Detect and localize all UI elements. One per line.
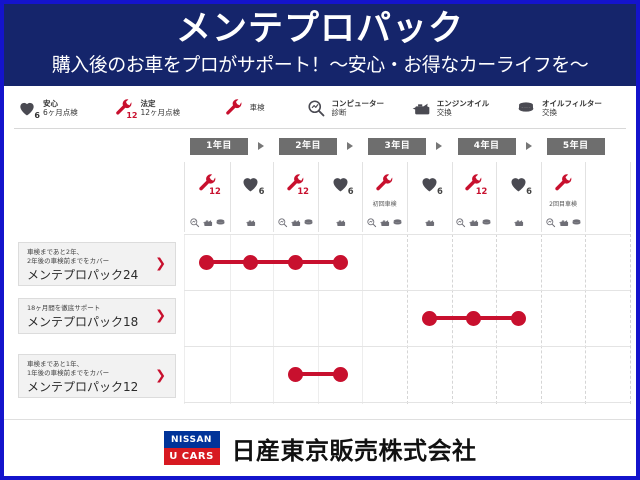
column-note-5: 初回車検 bbox=[373, 200, 397, 210]
oil-can-icon bbox=[245, 213, 256, 232]
page-footer: NISSAN U CARS 日産東京販売株式会社 bbox=[4, 420, 636, 476]
column-sub-icons bbox=[277, 212, 314, 232]
legend-item-3: コンピューター診断 bbox=[303, 95, 396, 121]
oil-can-icon bbox=[424, 213, 435, 232]
coverage-dot bbox=[334, 256, 347, 269]
year-label-4: 4年目 bbox=[458, 138, 516, 155]
year-arrow-4 bbox=[526, 142, 532, 150]
package-sub1: 車検まであと2年、 bbox=[27, 248, 169, 257]
magnifier-icon bbox=[545, 213, 556, 232]
company-name: 日産東京販売株式会社 bbox=[232, 431, 477, 466]
package-sub1: 車検まであと1年、 bbox=[27, 360, 169, 369]
magnifier-icon bbox=[189, 213, 200, 232]
year-label-1: 1年目 bbox=[190, 138, 248, 155]
logo-nissan-text: NISSAN bbox=[164, 431, 220, 448]
column-sub-icons bbox=[335, 212, 346, 232]
heart-icon: 6 bbox=[240, 162, 261, 200]
timeline-column-6: 6 bbox=[407, 162, 453, 232]
column-sub-icons bbox=[189, 212, 226, 232]
year-arrow-1 bbox=[258, 142, 264, 150]
timeline-column-2: 6 bbox=[229, 162, 275, 232]
package-timeline-area bbox=[184, 234, 630, 404]
legend-item-label: エンジンオイル交換 bbox=[437, 99, 490, 118]
oil-filter-icon bbox=[392, 213, 403, 232]
timeline-column-7: 12 bbox=[452, 162, 498, 232]
legend-item-0: 6安心6ヶ月点検 bbox=[14, 95, 99, 121]
timeline-column-10 bbox=[585, 162, 631, 232]
year-header: 1年目2年目3年目4年目5年目 bbox=[184, 138, 630, 157]
legend-item-1: 12法定12ヶ月点検 bbox=[111, 95, 208, 121]
oil-filter-icon bbox=[215, 213, 226, 232]
heart-icon: 6 bbox=[330, 162, 351, 200]
year-label-5: 5年目 bbox=[547, 138, 605, 155]
timeline-grid-column-9 bbox=[541, 234, 587, 404]
wrench-icon bbox=[374, 162, 395, 200]
wrench-icon bbox=[221, 95, 247, 121]
row-divider-2 bbox=[184, 346, 630, 347]
nissan-ucars-logo: NISSAN U CARS bbox=[164, 431, 220, 465]
page-root: メンテプロパック 購入後のお車をプロがサポート！〜安心・お得なカーライフを〜 6… bbox=[4, 4, 636, 476]
page-header: メンテプロパック 購入後のお車をプロがサポート！〜安心・お得なカーライフを〜 bbox=[4, 4, 636, 86]
package-card-pack24[interactable]: 車検まであと2年、2年後の車検前までをカバーメンテプロパック24❯ bbox=[18, 242, 176, 286]
row-divider-1 bbox=[184, 290, 630, 291]
column-sub-icons bbox=[366, 212, 403, 232]
timeline-grid-column-10 bbox=[585, 234, 631, 404]
chevron-right-icon[interactable]: ❯ bbox=[155, 370, 166, 383]
heart-icon: 6 bbox=[508, 162, 529, 200]
row-divider-bottom bbox=[184, 402, 630, 403]
oil-can-icon bbox=[202, 213, 213, 232]
year-label-2: 2年目 bbox=[279, 138, 337, 155]
chevron-right-icon[interactable]: ❯ bbox=[155, 258, 166, 271]
legend-item-2: 車検 bbox=[221, 95, 291, 121]
maintenance-icon-grid: 126126初回車検61262回目車検 bbox=[184, 162, 630, 232]
timeline-column-5: 初回車検 bbox=[362, 162, 408, 232]
magnifier-icon bbox=[303, 95, 329, 121]
coverage-dot bbox=[512, 312, 525, 325]
oil-can-icon bbox=[513, 213, 524, 232]
chevron-right-icon[interactable]: ❯ bbox=[155, 310, 166, 323]
magnifier-icon bbox=[277, 213, 288, 232]
oil-can-icon bbox=[408, 95, 434, 121]
coverage-track-メンテプロパック24 bbox=[206, 260, 340, 264]
legend-item-label: コンピューター診断 bbox=[332, 99, 385, 118]
package-name: メンテプロパック18 bbox=[27, 314, 169, 330]
oil-can-icon bbox=[558, 213, 569, 232]
magnifier-icon bbox=[366, 213, 377, 232]
legend-item-5: オイルフィルター交換 bbox=[513, 95, 614, 121]
page-subtitle: 購入後のお車をプロがサポート！〜安心・お得なカーライフを〜 bbox=[52, 52, 589, 78]
oil-can-icon bbox=[379, 213, 390, 232]
column-note-9: 2回目車検 bbox=[549, 200, 577, 210]
column-sub-icons bbox=[424, 212, 435, 232]
coverage-dot bbox=[423, 312, 436, 325]
legend-divider bbox=[14, 128, 626, 129]
wrench-icon: 12 bbox=[111, 95, 137, 121]
oil-filter-icon bbox=[571, 213, 582, 232]
column-sub-icons bbox=[245, 212, 256, 232]
package-card-pack18[interactable]: 18ヶ月間を徹底サポートメンテプロパック18❯ bbox=[18, 298, 176, 334]
coverage-dot bbox=[467, 312, 480, 325]
wrench-icon: 12 bbox=[197, 162, 218, 200]
coverage-dot bbox=[244, 256, 257, 269]
heart-icon: 6 bbox=[419, 162, 440, 200]
legend-item-label: 安心6ヶ月点検 bbox=[43, 99, 78, 118]
oil-can-icon bbox=[290, 213, 301, 232]
timeline-column-8: 6 bbox=[496, 162, 542, 232]
timeline-column-3: 12 bbox=[273, 162, 319, 232]
coverage-dot bbox=[334, 368, 347, 381]
package-card-pack12[interactable]: 車検まであと1年、1年後の車検前までをカバーメンテプロパック12❯ bbox=[18, 354, 176, 398]
oil-filter-icon bbox=[513, 95, 539, 121]
year-label-3: 3年目 bbox=[368, 138, 426, 155]
package-name: メンテプロパック24 bbox=[27, 267, 169, 283]
legend-item-label: 車検 bbox=[250, 103, 265, 113]
year-arrow-3 bbox=[436, 142, 442, 150]
wrench-icon: 12 bbox=[463, 162, 484, 200]
package-sub2: 1年後の車検前までをカバー bbox=[27, 369, 169, 378]
timeline-column-1: 12 bbox=[184, 162, 231, 232]
page-title: メンテプロパック bbox=[176, 6, 464, 52]
timeline-grid-column-5 bbox=[362, 234, 408, 404]
column-sub-icons bbox=[455, 212, 492, 232]
oil-can-icon bbox=[335, 213, 346, 232]
year-arrow-2 bbox=[347, 142, 353, 150]
oil-filter-icon bbox=[481, 213, 492, 232]
logo-ucars-text: U CARS bbox=[164, 448, 220, 465]
row-divider-0 bbox=[184, 234, 630, 235]
column-sub-icons bbox=[513, 212, 524, 232]
oil-filter-icon bbox=[303, 213, 314, 232]
timeline-column-9: 2回目車検 bbox=[541, 162, 587, 232]
legend-item-4: エンジンオイル交換 bbox=[408, 95, 501, 121]
magnifier-icon bbox=[455, 213, 466, 232]
package-sub1: 18ヶ月間を徹底サポート bbox=[27, 304, 169, 313]
legend-item-label: オイルフィルター交換 bbox=[542, 99, 602, 118]
wrench-icon bbox=[553, 162, 574, 200]
timeline-column-4: 6 bbox=[318, 162, 364, 232]
coverage-dot bbox=[200, 256, 213, 269]
package-sub2: 2年後の車検前までをカバー bbox=[27, 257, 169, 266]
coverage-dot bbox=[289, 256, 302, 269]
wrench-icon: 12 bbox=[285, 162, 306, 200]
heart-icon: 6 bbox=[14, 95, 40, 121]
column-sub-icons bbox=[545, 212, 582, 232]
legend-item-label: 法定12ヶ月点検 bbox=[140, 99, 180, 118]
coverage-dot bbox=[289, 368, 302, 381]
legend: 6安心6ヶ月点検12法定12ヶ月点検車検コンピューター診断エンジンオイル交換オイ… bbox=[14, 90, 626, 126]
oil-can-icon bbox=[468, 213, 479, 232]
package-name: メンテプロパック12 bbox=[27, 379, 169, 395]
